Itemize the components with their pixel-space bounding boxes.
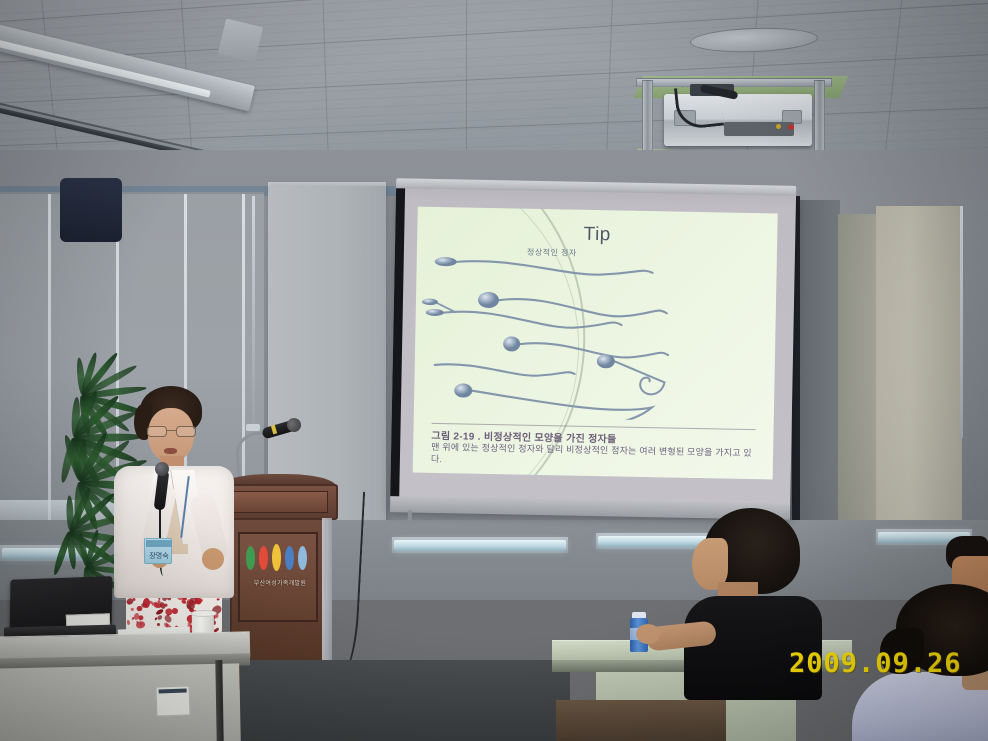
- logo-oval-1: [246, 546, 255, 570]
- photo-scene: Tip 정상적인 정자 그림 2-19 . 비정상적인 모양을 가진 정자들 맨…: [0, 0, 988, 741]
- logo-oval-3: [272, 544, 281, 571]
- floral-motif: [157, 622, 160, 625]
- sperm-head: [503, 336, 520, 351]
- blind-control-rod[interactable]: [252, 196, 255, 426]
- eyeglasses-icon: [147, 426, 196, 437]
- strip-light: [394, 540, 566, 551]
- projector-indicator-yellow-icon: [776, 124, 781, 129]
- floral-motif: [171, 608, 177, 614]
- name-badge-header: [146, 540, 172, 547]
- logo-oval-2: [259, 546, 268, 570]
- normal-sperm-label: 정상적인 정자: [527, 247, 577, 259]
- sperm-head: [426, 309, 444, 316]
- sperm-tail: [457, 261, 653, 276]
- sperm-diagram-svg: [414, 251, 777, 423]
- screen-leg-left: [408, 510, 412, 520]
- camera-date-stamp: 2009.09.26: [789, 648, 962, 679]
- floral-motif: [217, 598, 220, 601]
- table-far-wood: [556, 700, 726, 741]
- eyeglass-bridge: [167, 430, 176, 431]
- sperm-head: [454, 383, 472, 397]
- sperm-tail: [520, 343, 668, 358]
- round-head-sperm: [503, 336, 668, 358]
- sperm-head: [478, 292, 499, 308]
- projector-cage-top: [636, 78, 832, 87]
- projector-indicator-red-icon: [788, 124, 794, 130]
- floral-motif: [142, 598, 149, 608]
- presenter-right-hand: [202, 548, 224, 570]
- audience-chair: [60, 178, 122, 242]
- presenter: 장명숙: [104, 386, 244, 656]
- presenter-mouth: [164, 448, 177, 454]
- coiled-tail-sperm: [596, 354, 665, 394]
- sperm-second-head: [422, 299, 438, 306]
- headless-tail: [435, 364, 575, 376]
- sperm-tail: [435, 364, 575, 376]
- bent-tail-sperm: [454, 383, 653, 422]
- eyeglass-lens-right: [176, 426, 196, 437]
- table-label-sticker: [155, 685, 190, 716]
- eyeglass-lens-left: [147, 426, 167, 437]
- blind-control-rod-right[interactable]: [960, 206, 963, 438]
- normal-sperm: [435, 257, 653, 276]
- sperm-coiled-tail: [614, 361, 665, 394]
- sperm-morphology-diagram: [414, 251, 777, 423]
- projector-port-panel: [724, 122, 794, 136]
- projected-slide: Tip 정상적인 정자 그림 2-19 . 비정상적인 모양을 가진 정자들 맨…: [413, 207, 778, 480]
- logo-oval-4: [285, 546, 294, 570]
- blind-rod-handle[interactable]: [246, 424, 260, 431]
- sperm-head: [435, 257, 457, 266]
- window-right: [962, 200, 988, 530]
- presenter-table-panel: [0, 663, 241, 741]
- presenter-table-leg: [215, 660, 223, 741]
- projection-screen: Tip 정상적인 정자 그림 2-19 . 비정상적인 모양을 가진 정자들 맨…: [390, 178, 796, 528]
- large-head-sperm: [478, 292, 667, 318]
- ceiling-tile-texture: [0, 0, 988, 50]
- audience-1-hand: [636, 624, 660, 644]
- floor: [240, 660, 570, 741]
- handheld-microphone-head-icon: [155, 462, 169, 476]
- pinhead-double-sperm: [422, 299, 622, 329]
- floral-motif: [131, 608, 134, 611]
- sperm-tail: [499, 299, 667, 318]
- name-badge-text: 장명숙: [145, 551, 173, 561]
- floral-motif: [157, 614, 163, 620]
- name-badge: 장명숙: [144, 538, 172, 564]
- floral-motif: [127, 620, 130, 625]
